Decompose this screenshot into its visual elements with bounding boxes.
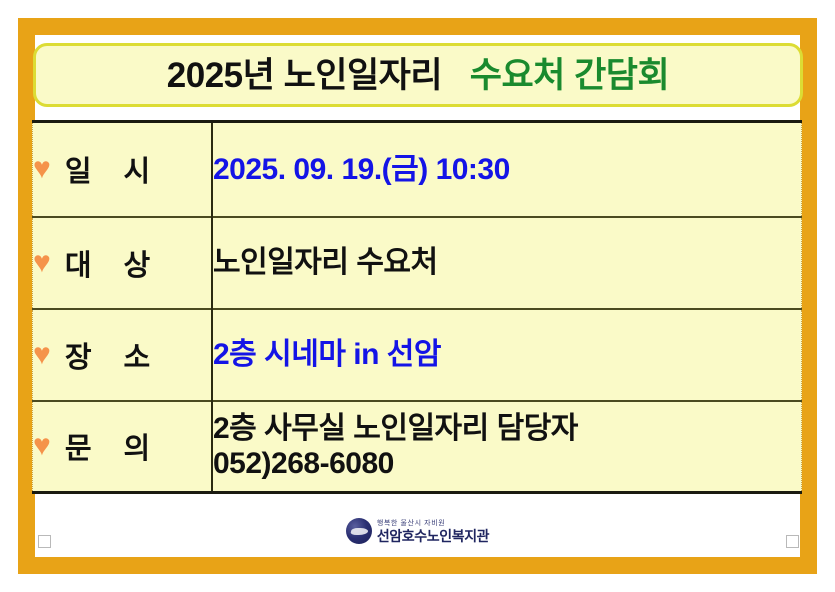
row-value: 노인일자리 수요처 (213, 245, 801, 280)
row-label: 문 의 (65, 425, 162, 467)
row-value-phone: 052)268-6080 (213, 446, 801, 481)
table-row: ♥ 장 소 2층 시네마 in 선암 (33, 309, 802, 401)
page-title: 2025년 노인일자리 수요처 간담회 (167, 58, 669, 93)
title-part-green: 수요처 간담회 (470, 56, 669, 95)
label-cell-place: ♥ 장 소 (33, 309, 213, 401)
logo-tagline: 행복한 울산시 자비원 (377, 520, 489, 527)
row-value: 2층 사무실 노인일자리 담당자 (213, 411, 801, 446)
label-cell-target: ♥ 대 상 (33, 217, 213, 309)
heart-icon: ♥ (33, 248, 51, 278)
circle-wave-logo-icon (346, 518, 372, 544)
value-cell-target: 노인일자리 수요처 (212, 217, 802, 309)
table-row: ♥ 대 상 노인일자리 수요처 (33, 217, 802, 309)
frame-border-bottom (18, 557, 817, 574)
label-cell-date: ♥ 일 시 (33, 122, 213, 217)
table-row: ♥ 문 의 2층 사무실 노인일자리 담당자 052)268-6080 (33, 401, 802, 493)
label-cell-contact: ♥ 문 의 (33, 401, 213, 493)
title-banner: 2025년 노인일자리 수요처 간담회 (33, 43, 803, 107)
row-value: 2층 시네마 in 선암 (213, 337, 801, 372)
value-cell-date: 2025. 09. 19.(금) 10:30 (212, 122, 802, 217)
row-label: 장 소 (65, 334, 162, 376)
value-cell-place: 2층 시네마 in 선암 (212, 309, 802, 401)
frame-border-right (800, 18, 817, 574)
table-row: ♥ 일 시 2025. 09. 19.(금) 10:30 (33, 122, 802, 217)
logo-text-block: 행복한 울산시 자비원 선암호수노인복지관 (377, 520, 489, 543)
row-label: 대 상 (65, 242, 162, 284)
title-part-black: 2025년 노인일자리 (167, 56, 442, 95)
poster-page: 2025년 노인일자리 수요처 간담회 ♥ 일 시 2025. 09. 19.(… (0, 0, 835, 592)
row-value: 2025. 09. 19.(금) 10:30 (213, 152, 801, 187)
event-info-table: ♥ 일 시 2025. 09. 19.(금) 10:30 ♥ 대 상 노인일자리… (32, 120, 802, 494)
logo-organization-name: 선암호수노인복지관 (377, 529, 489, 543)
frame-border-top (18, 18, 817, 35)
row-label: 일 시 (65, 148, 162, 190)
heart-icon: ♥ (33, 154, 51, 184)
heart-icon: ♥ (33, 431, 51, 461)
footer-logo: 행복한 울산시 자비원 선암호수노인복지관 (0, 518, 835, 544)
value-cell-contact: 2층 사무실 노인일자리 담당자 052)268-6080 (212, 401, 802, 493)
heart-icon: ♥ (33, 340, 51, 370)
